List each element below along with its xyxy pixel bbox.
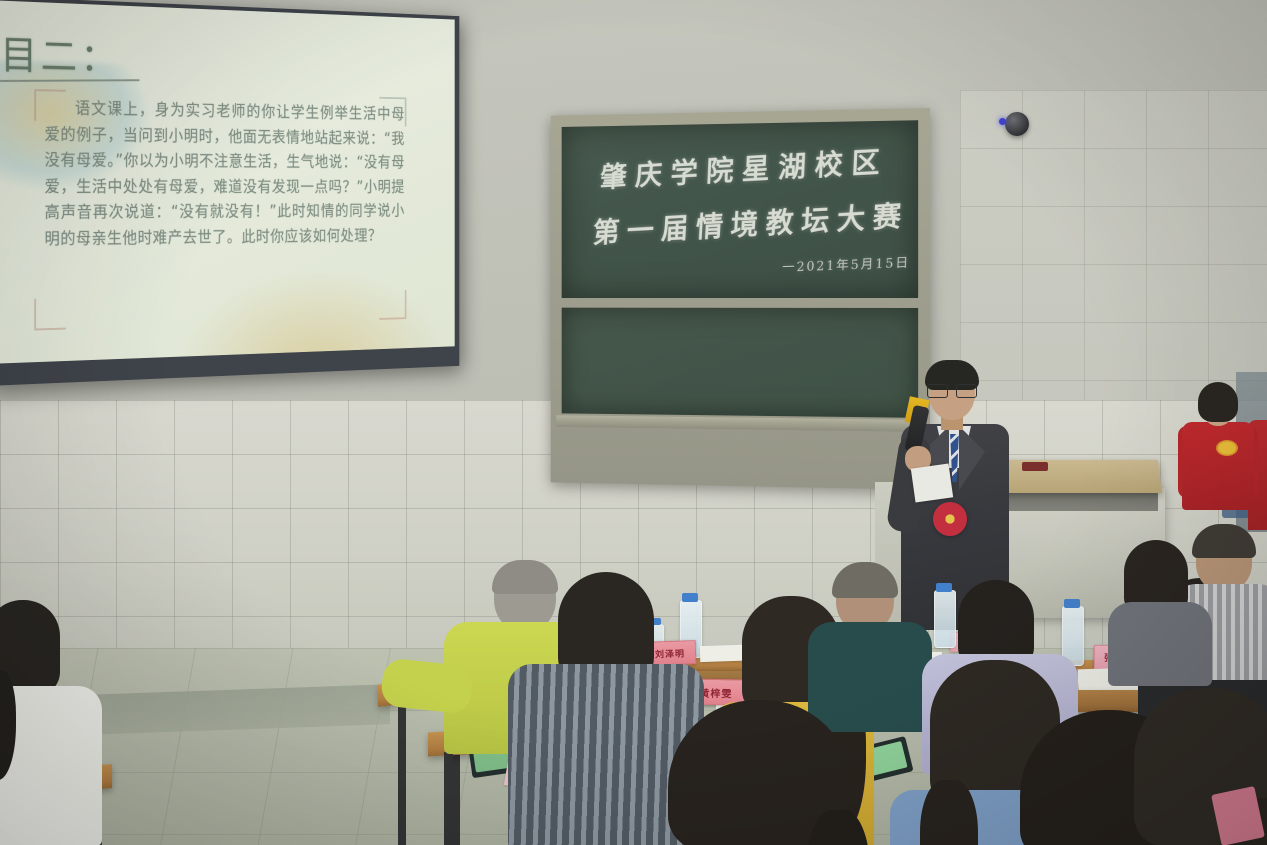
person-torso — [808, 622, 932, 732]
projection-screen: 项目二： 语文课上，身为实习老师的你让学生例举生活中母爱的例子，当问到小明时，他… — [0, 0, 459, 386]
blackboard-upper-panel: 肇庆学院星湖校区 第一届情境教坛大赛 一2021年5月15日 — [562, 120, 918, 298]
chalk-line-1: 肇庆学院星湖校区 — [599, 139, 889, 196]
speaker-notecard — [911, 464, 953, 503]
nameplate-label: 黄梓雯 — [699, 684, 732, 700]
security-camera-icon — [1005, 112, 1029, 136]
person-torso — [1108, 602, 1212, 686]
slide-bracket-bottomleft — [34, 298, 66, 330]
slide-body-text: 语文课上，身为实习老师的你让学生例举生活中母爱的例子，当问到小明时，他面无表情地… — [45, 95, 405, 252]
blackboard-lower-panel — [562, 308, 918, 418]
projection-surface: 项目二： 语文课上，身为实习老师的你让学生例举生活中母爱的例子，当问到小明时，他… — [0, 0, 455, 364]
bottle-cap — [936, 583, 952, 592]
camera-led-icon — [999, 118, 1006, 125]
desk-leg — [398, 700, 406, 845]
volunteer-logo-icon — [1216, 440, 1238, 456]
lectern-item — [1022, 462, 1048, 471]
classroom-scene: 项目二： 语文课上，身为实习老师的你让学生例举生活中母爱的例子，当问到小明时，他… — [0, 0, 1267, 845]
bottle-cap — [682, 593, 698, 602]
desk-leg — [444, 752, 453, 845]
slide-heading: 项目二： — [0, 23, 120, 83]
bottle-cap — [1064, 599, 1080, 608]
water-bottle — [934, 590, 956, 648]
chalk-line-2: 第一届情境教坛大赛 — [592, 193, 911, 252]
flower-corsage-icon — [933, 502, 967, 536]
nameplate-label: 刘泽明 — [655, 646, 685, 660]
volunteer-red-polo — [1182, 422, 1254, 510]
chalk-date: 一2021年5月15日 — [782, 252, 911, 276]
blackboard: 肇庆学院星湖校区 第一届情境教坛大赛 一2021年5月15日 — [551, 108, 930, 490]
glasses-icon — [927, 384, 977, 396]
person-arm — [380, 657, 475, 714]
slide-bracket-bottomright — [379, 290, 406, 320]
volunteer-student — [1180, 382, 1256, 542]
volunteer-hair — [1198, 382, 1238, 422]
